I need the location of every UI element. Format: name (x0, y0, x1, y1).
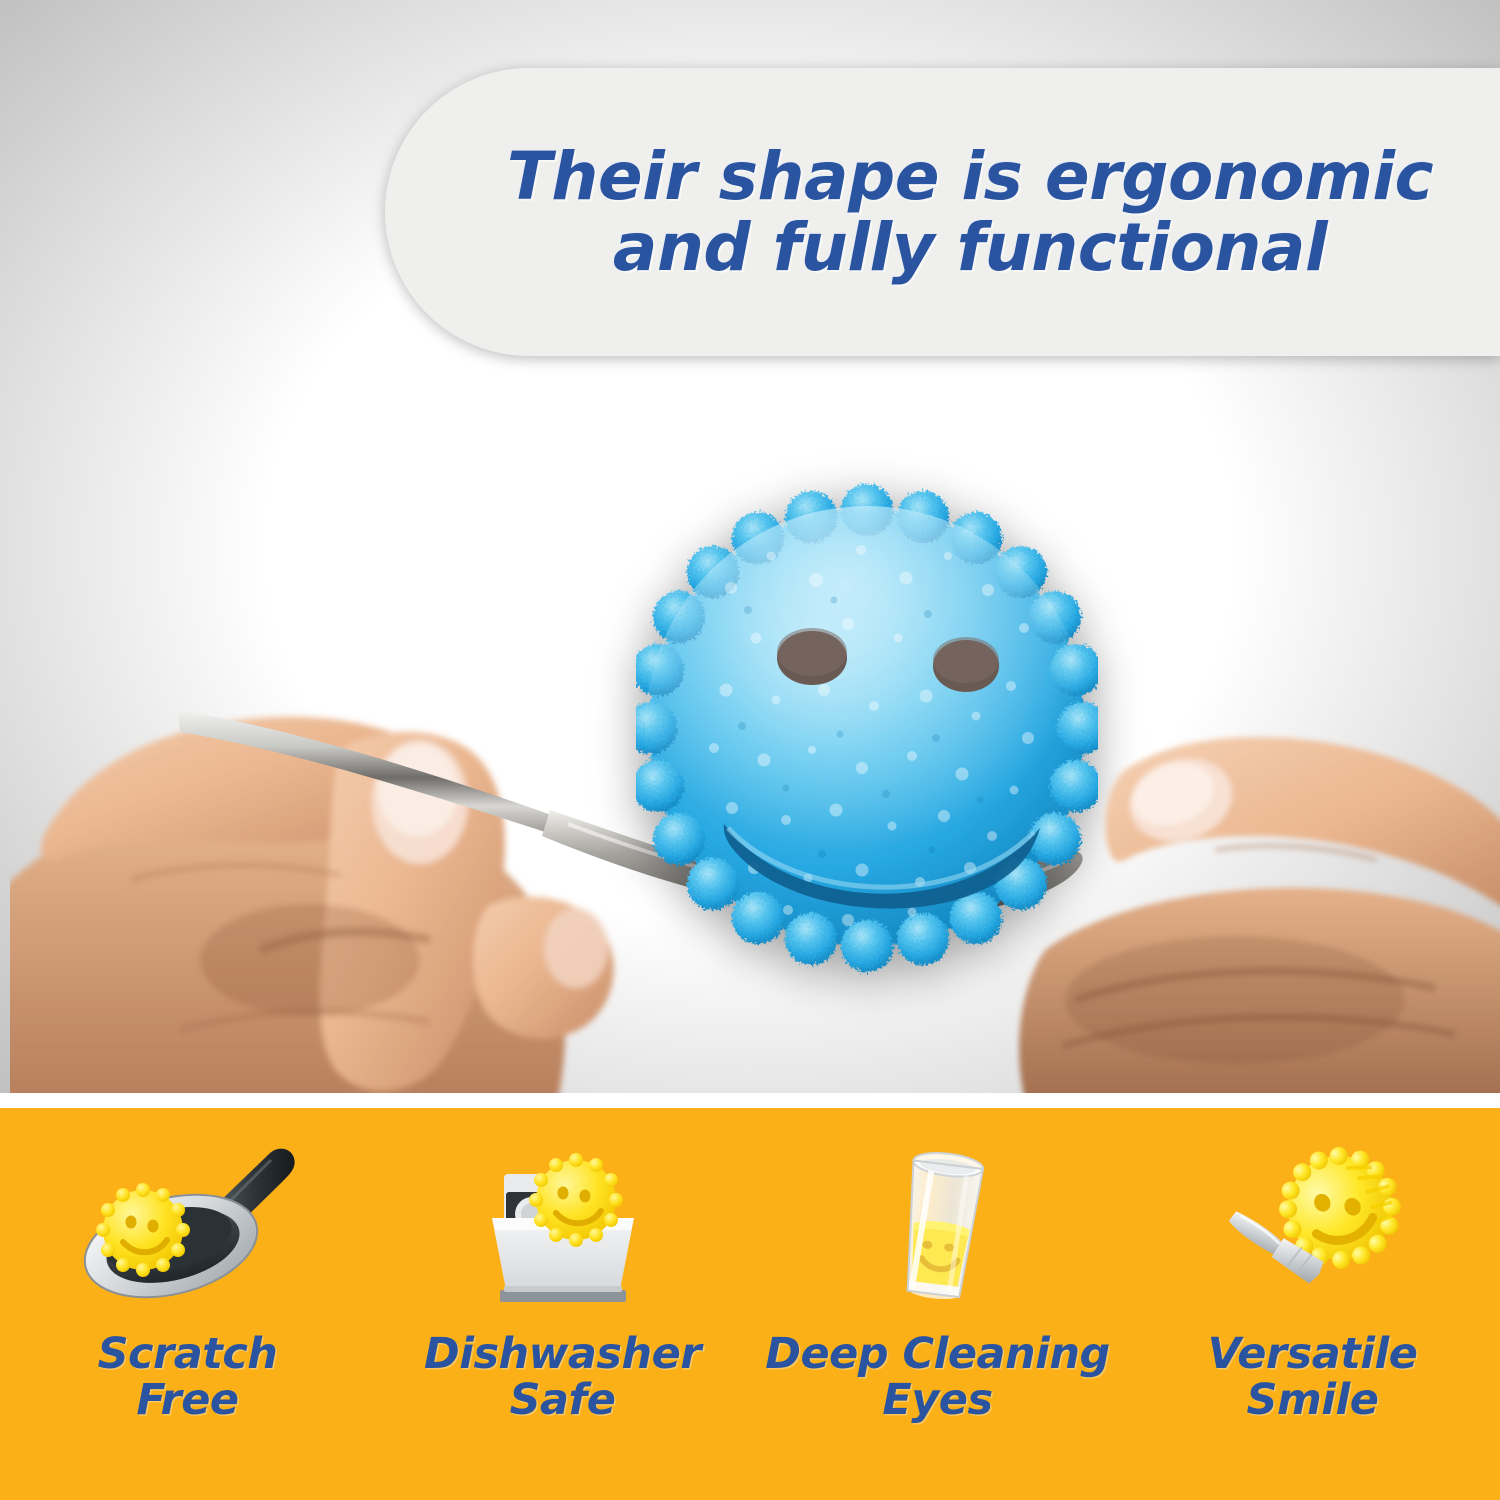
drinking-glass-with-sponge-icon (823, 1142, 1053, 1317)
fork-in-sponge-smile-icon (1198, 1142, 1428, 1317)
product-marketing-image: Their shape is ergonomic and fully funct… (0, 0, 1500, 1500)
feature-label: Dishwasher Safe (424, 1331, 701, 1424)
section-divider (0, 1093, 1500, 1108)
feature-label: Deep Cleaning Eyes (765, 1331, 1110, 1424)
feature-label: Scratch Free (98, 1331, 278, 1424)
dishwasher-with-sponge-icon (448, 1142, 678, 1317)
product-photo: Their shape is ergonomic and fully funct… (0, 0, 1500, 1093)
feature-item-dishwasher-safe[interactable]: Dishwasher Safe (375, 1108, 750, 1500)
headline-text: Their shape is ergonomic and fully funct… (412, 141, 1473, 284)
feature-label: Versatile Smile (1208, 1331, 1418, 1424)
feature-item-scratch-free[interactable]: Scratch Free (0, 1108, 375, 1500)
feature-item-versatile-smile[interactable]: Versatile Smile (1125, 1108, 1500, 1500)
headline-banner: Their shape is ergonomic and fully funct… (385, 68, 1500, 356)
feature-item-deep-cleaning-eyes[interactable]: Deep Cleaning Eyes (750, 1108, 1125, 1500)
feature-strip: Scratch Free (0, 1108, 1500, 1500)
frying-pan-with-sponge-icon (73, 1142, 303, 1317)
right-hand (985, 700, 1500, 1093)
